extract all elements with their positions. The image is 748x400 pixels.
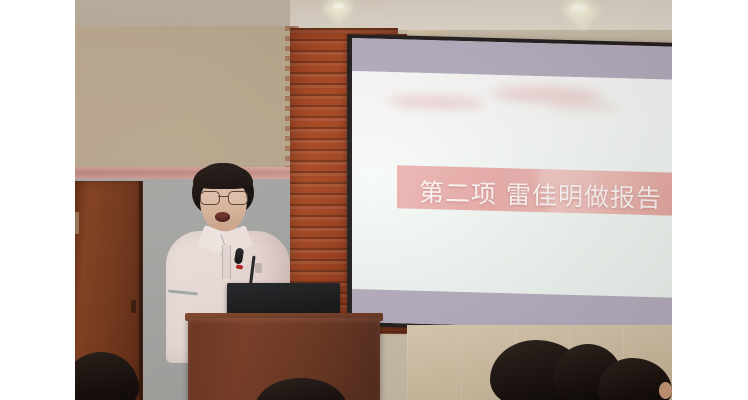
ceiling-spotlight-icon xyxy=(333,3,344,9)
glasses-lens-right xyxy=(228,191,248,205)
ceiling-light-flare xyxy=(322,6,354,26)
speaker-mouth xyxy=(215,212,230,222)
slide-watercolor-mark xyxy=(548,100,620,112)
glasses-lens-left xyxy=(200,191,220,205)
slide-title-banner: 第二项 雷佳明做报告 xyxy=(397,165,672,215)
slide-watercolor-mark xyxy=(388,94,484,111)
photo-stage: 第二项 雷佳明做报告 xyxy=(0,0,748,400)
letterbox-bar-right xyxy=(672,0,748,400)
glasses-icon xyxy=(199,191,248,203)
door-frame-seam xyxy=(139,181,142,400)
letterbox-bar-left xyxy=(0,0,75,400)
shirt-chest-logo xyxy=(255,263,262,273)
ceiling-light-flare xyxy=(563,8,603,32)
speaker-hair-fringe xyxy=(193,165,253,189)
door-plate xyxy=(75,212,79,234)
door-handle xyxy=(131,300,136,313)
glasses-bridge xyxy=(218,196,228,197)
photograph: 第二项 雷佳明做报告 xyxy=(75,0,672,400)
projection-screen: 第二项 雷佳明做报告 xyxy=(352,38,672,331)
audience-ear xyxy=(659,382,672,399)
polo-placket xyxy=(222,245,231,279)
upper-tan-wall xyxy=(75,26,295,174)
slide-title-text: 第二项 雷佳明做报告 xyxy=(419,173,662,216)
ceiling-spotlight-icon xyxy=(571,4,586,12)
presentation-slide: 第二项 雷佳明做报告 xyxy=(352,71,672,298)
